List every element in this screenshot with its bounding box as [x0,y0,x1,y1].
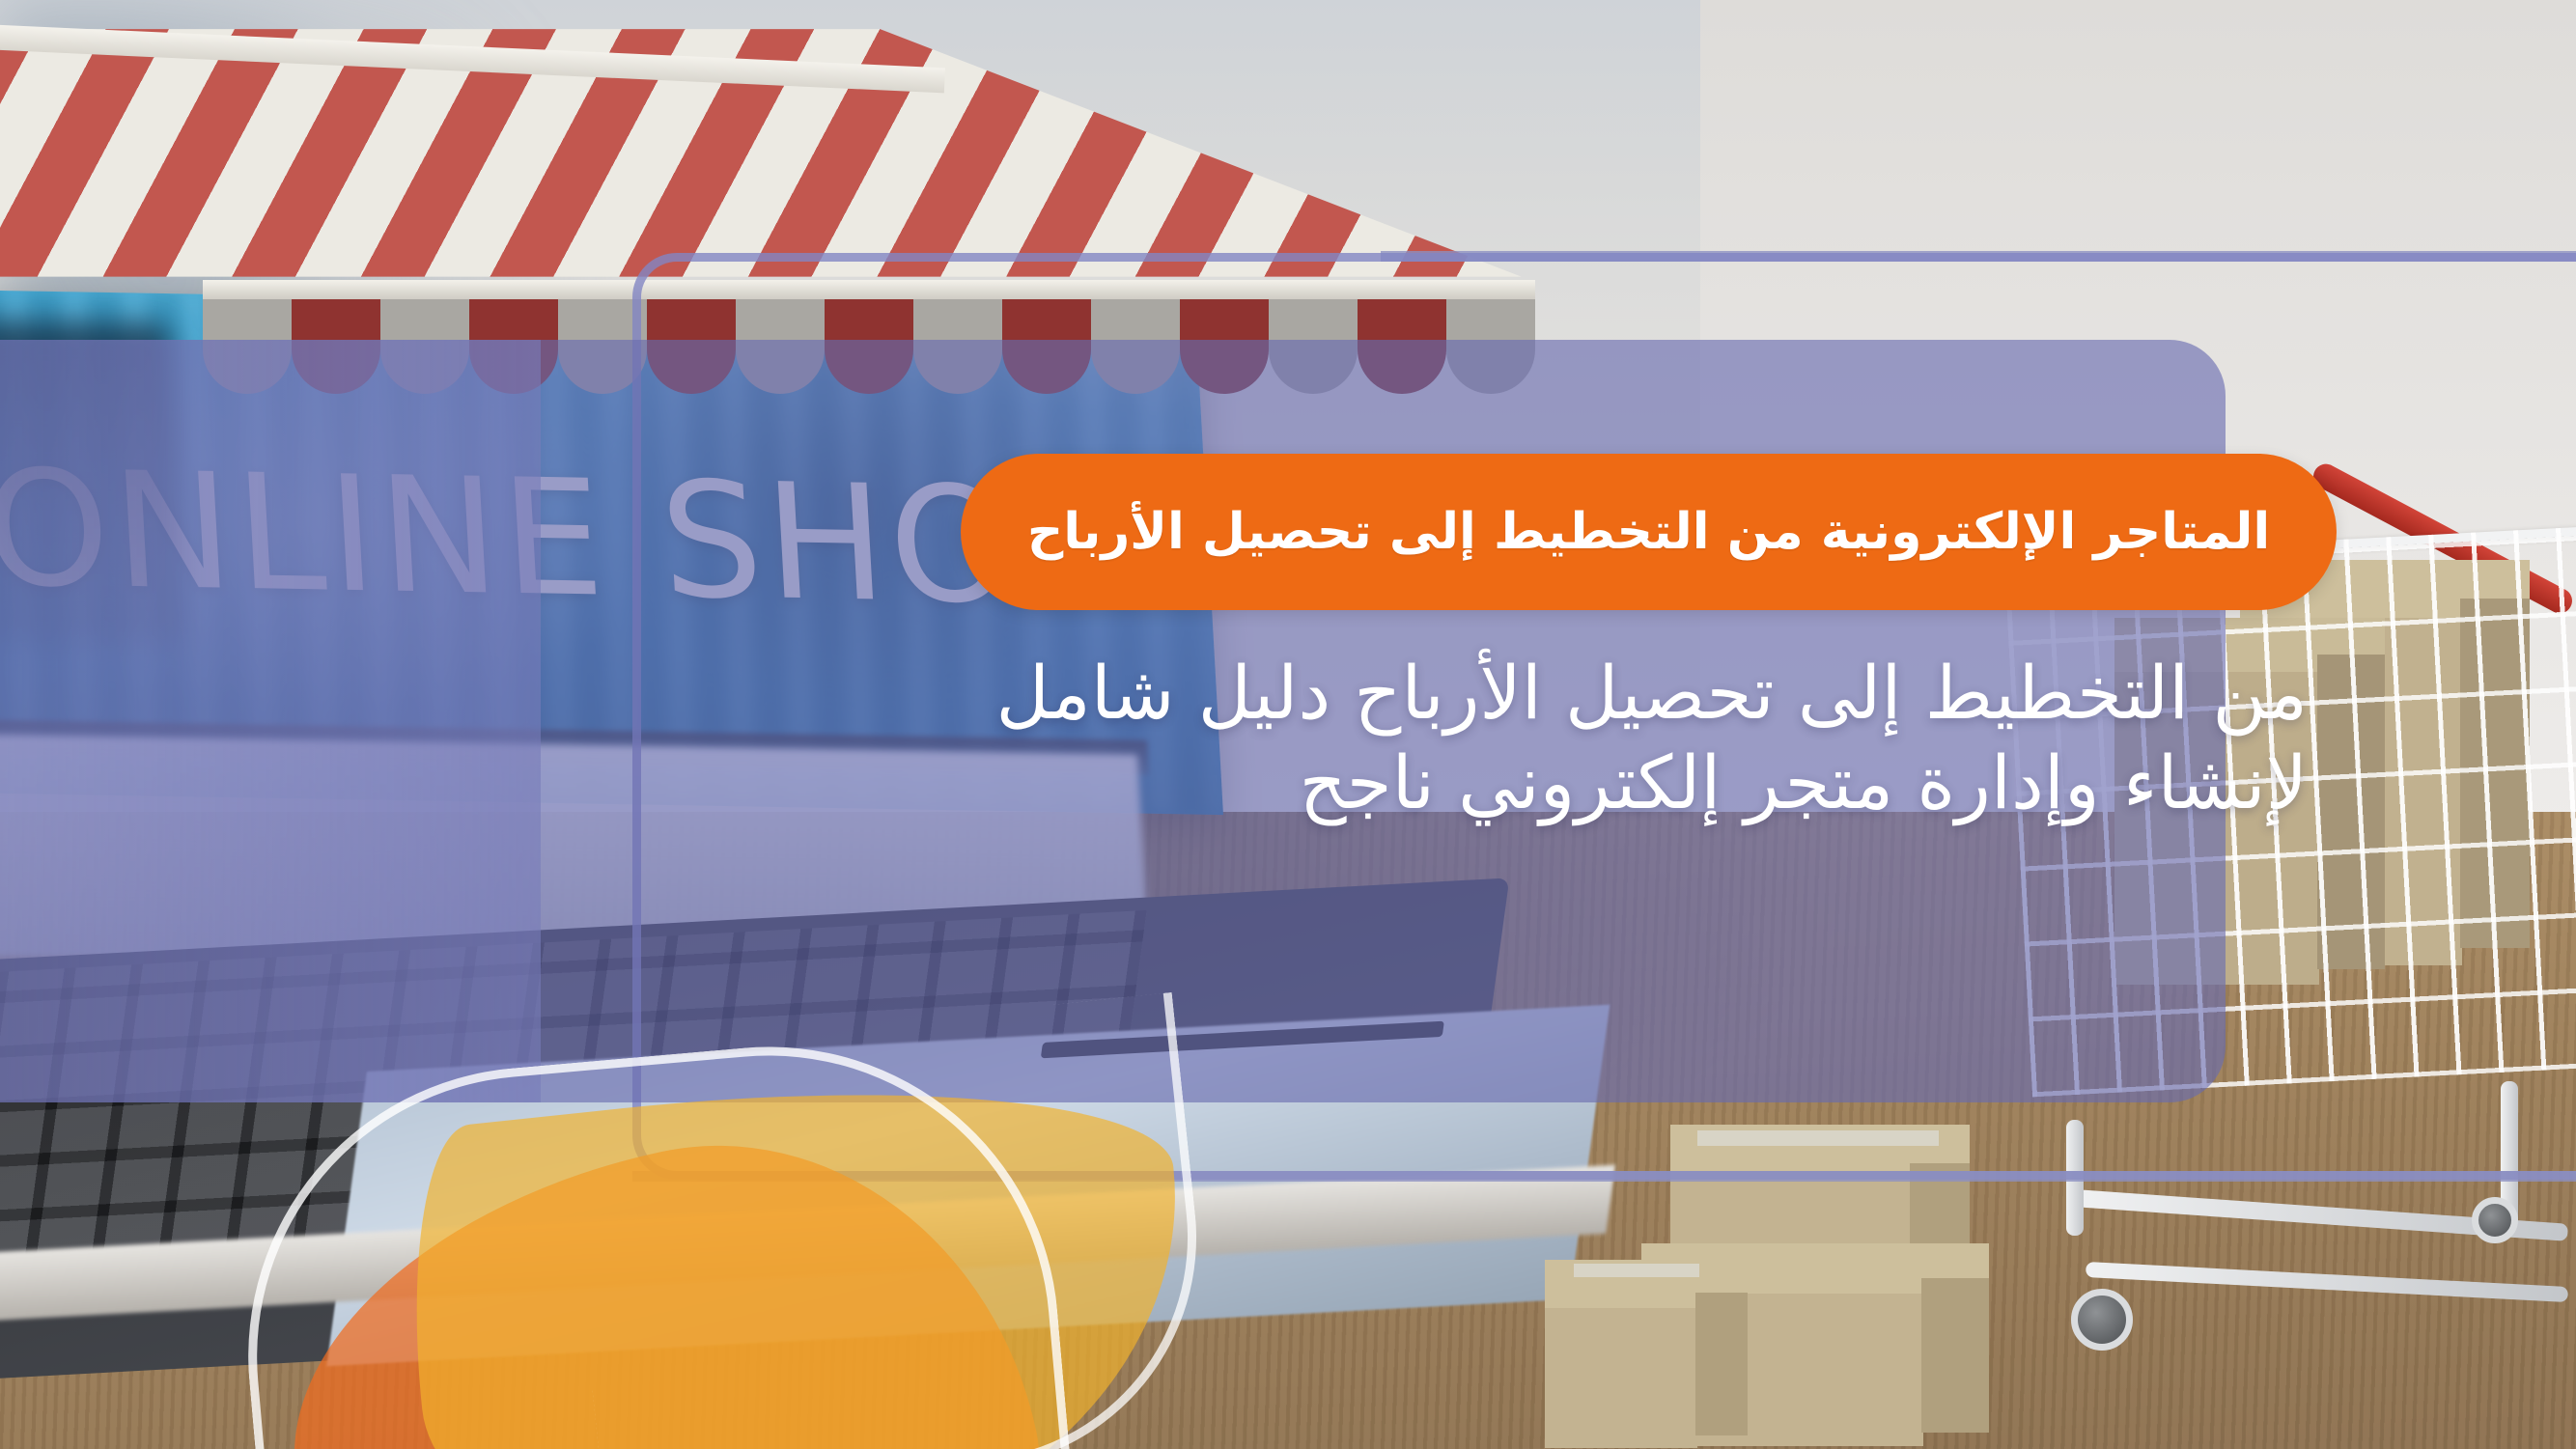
cart-wheel-rear [2472,1197,2518,1243]
decor-purple-panel-fade [0,340,541,1102]
headline: من التخطيط إلى تحصيل الأرباح دليل شامل ل… [850,649,2308,827]
headline-line-1: من التخطيط إلى تحصيل الأرباح دليل شامل [995,650,2308,736]
cardboard-box-small [1545,1260,1748,1448]
cart-wheel-front [2071,1289,2133,1351]
title-badge: المتاجر الإلكترونية من التخطيط إلى تحصيل… [961,454,2337,610]
title-badge-label: المتاجر الإلكترونية من التخطيط إلى تحصيل… [1027,503,2270,561]
decor-arch-outline-secondary [557,992,1219,1449]
banner-canvas: ONLINE SHOP [0,0,2576,1449]
headline-line-2: لإنشاء وإدارة متجر إلكتروني ناجح [850,738,2308,828]
